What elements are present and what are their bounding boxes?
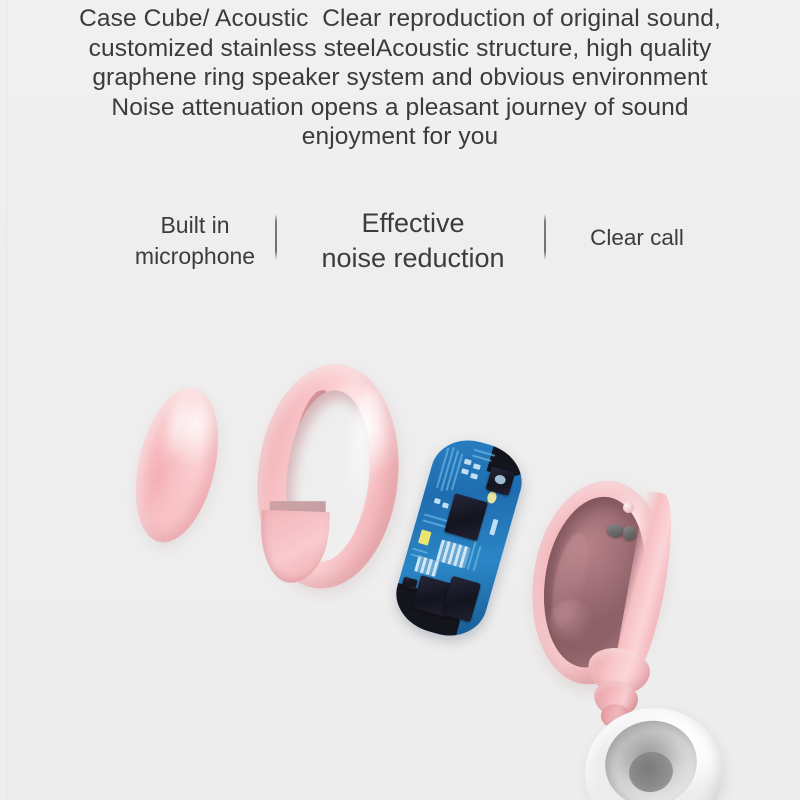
earbud-ear-tip-part	[585, 708, 723, 800]
earbud-circuit-board-part	[388, 431, 530, 645]
feature-clear-call: Clear call	[552, 222, 722, 253]
feature-effective-noise-reduction: Effective noise reduction	[298, 206, 528, 276]
product-exploded-view	[0, 330, 800, 800]
earbud-cavity-lobe	[549, 600, 593, 644]
product-feature-page: Case Cube/ Acoustic Clear reproduction o…	[0, 0, 800, 800]
earbud-capsule-cover-part	[122, 379, 232, 550]
earbud-ring-band-part	[247, 357, 410, 595]
earbud-microphone-port	[623, 502, 634, 513]
feature-divider-1	[275, 214, 277, 260]
earbud-charging-contact-2	[623, 526, 636, 540]
page-headline: Case Cube/ Acoustic Clear reproduction o…	[60, 4, 740, 152]
feature-row: Built in microphone Effective noise redu…	[70, 206, 730, 276]
feature-divider-2	[544, 214, 546, 260]
feature-built-in-microphone: Built in microphone	[100, 210, 290, 272]
earbud-housing-part	[533, 480, 683, 725]
